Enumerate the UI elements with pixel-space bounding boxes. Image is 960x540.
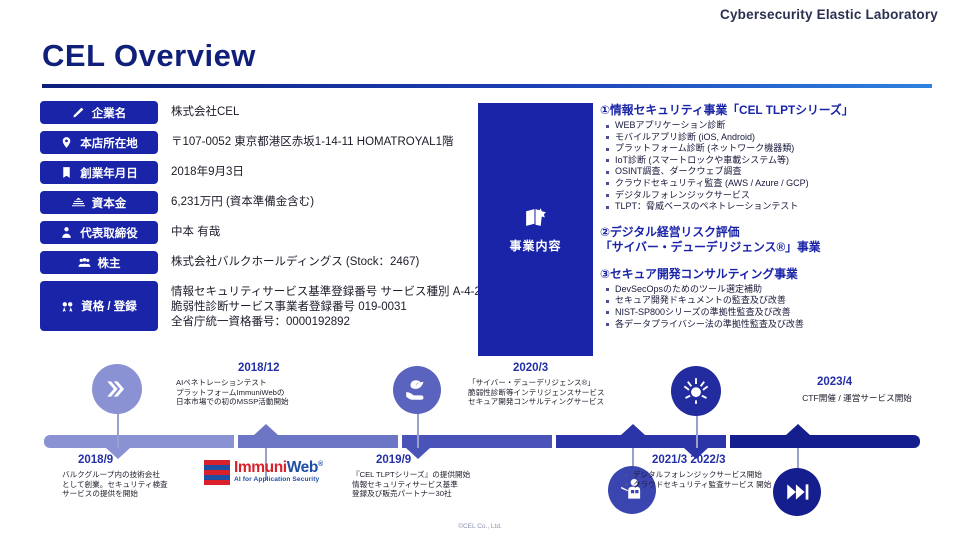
- timeline-stem: [632, 448, 634, 468]
- cert-line-3: 全省庁統一資格番号：0000192892: [171, 315, 481, 330]
- copyright: ©CEL Co., Ltd.: [0, 523, 960, 530]
- info-row: 株主 株式会社バルクホールディングス (Stock：2467): [40, 251, 470, 274]
- coins-icon: [72, 196, 85, 209]
- desc-line: 日本市場での初のMSSP活動開始: [176, 397, 341, 407]
- business-heading-2: ②デジタル経営リスク評価 「サイバー・デューデリジェンス®」事業: [600, 225, 950, 255]
- book-hand-icon: [523, 205, 548, 230]
- info-value-capital: 6,231万円 (資本準備金含む): [158, 191, 314, 210]
- immuniweb-cube-icon: [204, 459, 230, 485]
- list-item: NIST-SP800シリーズの準拠性監査及び改善: [604, 307, 950, 319]
- business-heading-3-text: ③セキュア開発コンサルティング事業: [600, 267, 798, 281]
- list-item: デジタルフォレンジックサービス: [604, 190, 950, 202]
- timeline-desc-2021-2022: デジタルフォレンジックサービス開始 クラウドセキュリティ監査サービス 開始: [624, 470, 774, 489]
- timeline-segment-5: [730, 435, 920, 448]
- list-item: セキュア開発ドキュメントの監査及び改善: [604, 295, 950, 307]
- timeline-stem: [797, 448, 799, 470]
- timeline-desc-2020-3: 「サイバー・デューデリジェンス®」 脆弱性診断等インテリジェンスサービス セキュ…: [468, 378, 618, 407]
- business-list: ①情報セキュリティ事業「CEL TLPTシリーズ」 WEBアプリケーション診断 …: [600, 103, 950, 330]
- list-item: TLPT：脅威ベースのペネトレーションテスト: [604, 201, 950, 213]
- desc-line: 登録及び販売パートナー30社: [352, 489, 502, 499]
- timeline-icon-2018-9: [92, 364, 142, 414]
- timeline: 2018/9 バルクグループ内の技術会社 として創業。セキュリティ検査 サービス…: [0, 356, 960, 540]
- info-label-text: 創業年月日: [80, 165, 138, 181]
- info-label-text: 資格 / 登録: [81, 298, 137, 314]
- info-label-address: 本店所在地: [40, 131, 158, 154]
- timeline-year-2018-12: 2018/12: [238, 362, 280, 374]
- info-row: 本店所在地 〒107-0052 東京都港区赤坂1-14-11 HOMATROYA…: [40, 131, 470, 154]
- info-label-capital: 資本金: [40, 191, 158, 214]
- immuniweb-logo: ImmuniWeb® AI for Application Security: [204, 459, 323, 485]
- timeline-segment-1: [44, 435, 234, 448]
- timeline-segment-2: [238, 435, 398, 448]
- ribbon-icon: [61, 300, 74, 313]
- map-pin-icon: [60, 136, 73, 149]
- info-label-text: 資本金: [92, 195, 127, 211]
- list-item: IoT診断 (スマートロックや車載システム等): [604, 155, 950, 167]
- leaf-hand-icon: [404, 377, 430, 403]
- brand-title: Cybersecurity Elastic Laboratory: [720, 7, 938, 22]
- immuniweb-tagline: AI for Application Security: [234, 477, 323, 484]
- info-value-founded: 2018年9月3日: [158, 161, 244, 180]
- timeline-year-2019-9: 2019/9: [376, 454, 411, 466]
- info-label-representative: 代表取締役: [40, 221, 158, 244]
- info-label-shareholder: 株主: [40, 251, 158, 274]
- list-item: OSINT調査、ダークウェブ調査: [604, 166, 950, 178]
- info-row: 資本金 6,231万円 (資本準備金含む): [40, 191, 470, 214]
- cert-line-2: 脆弱性診断サービス事業者登録番号 019-0031: [171, 300, 481, 315]
- list-item: WEBアプリケーション診断: [604, 120, 950, 132]
- info-row: 創業年月日 2018年9月3日: [40, 161, 470, 184]
- info-label-founded: 創業年月日: [40, 161, 158, 184]
- business-content-caption: 事業内容: [509, 237, 561, 254]
- timeline-icon-2023-4: [773, 468, 821, 516]
- list-item: DevSecOpsのためのツール選定補助: [604, 284, 950, 296]
- chevrons-right-icon: [104, 376, 130, 402]
- timeline-year-2021-2022: 2021/3 2022/3: [652, 454, 726, 466]
- timeline-desc-2018-12: AIペネトレーションテスト プラットフォームImmuniWebの 日本市場での初…: [176, 378, 341, 407]
- timeline-year-2020-3: 2020/3: [513, 362, 548, 374]
- immuniweb-name-part-2: Web: [287, 459, 318, 476]
- timeline-notch-up: [254, 424, 278, 435]
- cert-line-1: 情報セキュリティサービス基準登録番号 サービス種別 A-4-2: [171, 285, 481, 300]
- list-item: 各データプライバシー法の準拠性監査及び改善: [604, 319, 950, 331]
- timeline-year-2023-4: 2023/4: [817, 376, 852, 388]
- slide-root: Cybersecurity Elastic Laboratory CEL Ove…: [0, 0, 960, 540]
- timeline-desc-2018-9: バルクグループ内の技術会社 として創業。セキュリティ検査 サービスの提供を開始: [62, 470, 202, 499]
- list-item: プラットフォーム診断 (ネットワーク機器類): [604, 143, 950, 155]
- desc-line: AIペネトレーションテスト: [176, 378, 341, 388]
- company-info-table: 企業名 株式会社CEL 本店所在地 〒107-0052 東京都港区赤坂1-14-…: [40, 101, 470, 338]
- desc-line: CTF開催 / 運営サービス開始: [762, 394, 952, 404]
- desc-line: 「サイバー・デューデリジェンス®」: [468, 378, 618, 388]
- business-heading-2-line-1: ②デジタル経営リスク評価: [600, 225, 950, 240]
- info-row: 資格 / 登録 情報セキュリティサービス基準登録番号 サービス種別 A-4-2 …: [40, 281, 470, 331]
- pencil-icon: [72, 106, 85, 119]
- info-value-address: 〒107-0052 東京都港区赤坂1-14-11 HOMATROYAL1階: [158, 131, 453, 150]
- list-item: クラウドセキュリティ監査サービス 開始: [624, 480, 774, 490]
- info-label-company-name: 企業名: [40, 101, 158, 124]
- list-item: デジタルフォレンジックサービス開始: [624, 470, 774, 480]
- person-tie-icon: [60, 226, 73, 239]
- timeline-icon-2021-2022: [671, 366, 721, 416]
- info-label-text: 本店所在地: [80, 135, 138, 151]
- immuniweb-wordmark: ImmuniWeb® AI for Application Security: [234, 460, 323, 483]
- info-value-company-name: 株式会社CEL: [158, 101, 239, 120]
- timeline-desc-2019-9: 『CEL TLPTシリーズ』の提供開始 情報セキュリティサービス基準 登録及び販…: [352, 470, 502, 499]
- capital-amount: 6,231万円 (資本準備金含む): [171, 196, 314, 208]
- timeline-icon-2019-9: [393, 366, 441, 414]
- people-icon: [78, 256, 91, 269]
- immuniweb-name-part-1: Immuni: [234, 459, 287, 476]
- info-label-text: 企業名: [92, 105, 127, 121]
- registered-mark: ®: [318, 461, 323, 468]
- timeline-notch-up: [621, 424, 645, 435]
- timeline-year-2018-9: 2018/9: [78, 454, 113, 466]
- business-heading-3: ③セキュア開発コンサルティング事業: [600, 267, 950, 282]
- business-heading-1: ①情報セキュリティ事業「CEL TLPTシリーズ」: [600, 103, 950, 118]
- immuniweb-name: ImmuniWeb®: [234, 460, 323, 476]
- desc-line: プラットフォームImmuniWebの: [176, 388, 341, 398]
- timeline-desc-2023-4: CTF開催 / 運営サービス開始: [762, 394, 952, 404]
- desc-bullet-list: デジタルフォレンジックサービス開始 クラウドセキュリティ監査サービス 開始: [624, 470, 774, 489]
- business-items-1: WEBアプリケーション診断 モバイルアプリ診断 (iOS, Android) プ…: [604, 120, 950, 213]
- info-row: 代表取締役 中本 有哉: [40, 221, 470, 244]
- timeline-segment-3: [402, 435, 552, 448]
- desc-line: 『CEL TLPTシリーズ』の提供開始: [352, 470, 502, 480]
- business-heading-1-text: ①情報セキュリティ事業「CEL TLPTシリーズ」: [600, 103, 854, 117]
- info-row: 企業名 株式会社CEL: [40, 101, 470, 124]
- desc-line: セキュア開発コンサルティングサービス: [468, 397, 618, 407]
- desc-line: サービスの提供を開始: [62, 489, 202, 499]
- calendar-icon: [60, 166, 73, 179]
- info-label-text: 代表取締役: [80, 225, 138, 241]
- timeline-notch-up: [786, 424, 810, 435]
- business-heading-2-line-2: 「サイバー・デューデリジェンス®」事業: [600, 240, 950, 255]
- business-content-box: 事業内容: [478, 103, 593, 356]
- business-items-3: DevSecOpsのためのツール選定補助 セキュア開発ドキュメントの監査及び改善…: [604, 284, 950, 330]
- timeline-segment-4: [556, 435, 726, 448]
- info-value-representative: 中本 有哉: [158, 221, 220, 240]
- desc-line: 情報セキュリティサービス基準: [352, 480, 502, 490]
- desc-line: バルクグループ内の技術会社: [62, 470, 202, 480]
- info-value-certification: 情報セキュリティサービス基準登録番号 サービス種別 A-4-2 脆弱性診断サービ…: [158, 281, 481, 330]
- virus-network-icon: [682, 377, 710, 405]
- info-label-text: 株主: [98, 255, 121, 271]
- skip-forward-icon: [784, 479, 810, 505]
- desc-line: として創業。セキュリティ検査: [62, 480, 202, 490]
- info-value-shareholder: 株式会社バルクホールディングス (Stock：2467): [158, 251, 419, 270]
- page-title: CEL Overview: [42, 38, 256, 74]
- desc-line: 脆弱性診断等インテリジェンスサービス: [468, 388, 618, 398]
- title-divider: [42, 84, 932, 88]
- info-label-certification: 資格 / 登録: [40, 281, 158, 331]
- list-item: モバイルアプリ診断 (iOS, Android): [604, 132, 950, 144]
- list-item: クラウドセキュリティ監査 (AWS / Azure / GCP): [604, 178, 950, 190]
